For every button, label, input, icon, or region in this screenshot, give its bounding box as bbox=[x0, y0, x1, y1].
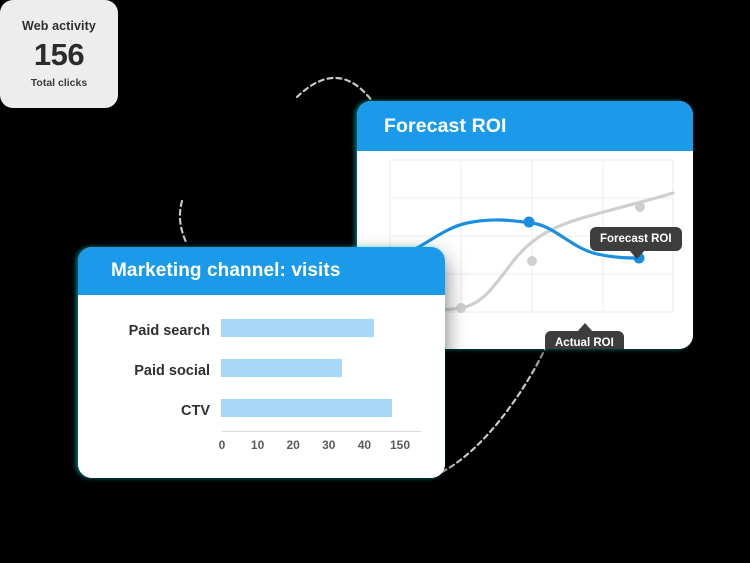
bar-chart-axis-line bbox=[222, 431, 421, 432]
marketing-chart-area: Paid searchPaid socialCTV 010203040150 bbox=[78, 295, 445, 478]
marker-forecast-3[interactable] bbox=[635, 202, 645, 212]
x-axis-tick-label: 150 bbox=[390, 438, 410, 452]
connector-kpi-to-marketing bbox=[180, 201, 186, 242]
bar-track bbox=[221, 393, 445, 429]
bar-category-label: CTV bbox=[78, 403, 221, 419]
bar-fill[interactable] bbox=[221, 359, 342, 377]
marker-actual-1[interactable] bbox=[524, 217, 535, 228]
x-axis-tick-label: 40 bbox=[358, 438, 371, 452]
kpi-title: Web activity bbox=[22, 19, 96, 33]
kpi-value: 156 bbox=[34, 39, 84, 72]
marketing-card-title: Marketing channel: visits bbox=[111, 260, 341, 282]
bar-chart-row: Paid search bbox=[78, 313, 445, 349]
web-activity-kpi-card[interactable]: Web activity 156 Total clicks bbox=[0, 0, 118, 108]
marketing-channel-card[interactable]: Marketing channel: visits Paid searchPai… bbox=[78, 247, 445, 478]
bar-track bbox=[221, 313, 445, 349]
bar-chart-row: Paid social bbox=[78, 353, 445, 389]
bar-fill[interactable] bbox=[221, 399, 392, 417]
kpi-subtitle: Total clicks bbox=[31, 77, 87, 89]
bar-category-label: Paid social bbox=[78, 363, 221, 379]
connector-marketing-to-forecast bbox=[442, 349, 545, 472]
bar-chart-row: CTV bbox=[78, 393, 445, 429]
bar-track bbox=[221, 353, 445, 389]
bar-fill[interactable] bbox=[221, 319, 374, 337]
tooltip-forecast-roi: Forecast ROI bbox=[590, 227, 682, 251]
x-axis-tick-label: 20 bbox=[287, 438, 300, 452]
screenshot-canvas: Forecast ROI bbox=[0, 0, 750, 563]
bar-chart-x-axis: 010203040150 bbox=[222, 438, 400, 458]
bar-chart-rows: Paid searchPaid socialCTV bbox=[78, 313, 445, 433]
forecast-card-header: Forecast ROI bbox=[357, 101, 693, 151]
marker-forecast-2[interactable] bbox=[527, 256, 537, 266]
x-axis-tick-label: 10 bbox=[251, 438, 264, 452]
bar-category-label: Paid search bbox=[78, 323, 221, 339]
marketing-card-header: Marketing channel: visits bbox=[78, 247, 445, 295]
x-axis-tick-label: 30 bbox=[322, 438, 335, 452]
forecast-card-title: Forecast ROI bbox=[384, 115, 507, 138]
connector-kpi-to-forecast bbox=[297, 78, 372, 101]
marker-forecast-1[interactable] bbox=[456, 303, 466, 313]
tooltip-actual-roi: Actual ROI bbox=[545, 331, 624, 349]
x-axis-tick-label: 0 bbox=[219, 438, 226, 452]
